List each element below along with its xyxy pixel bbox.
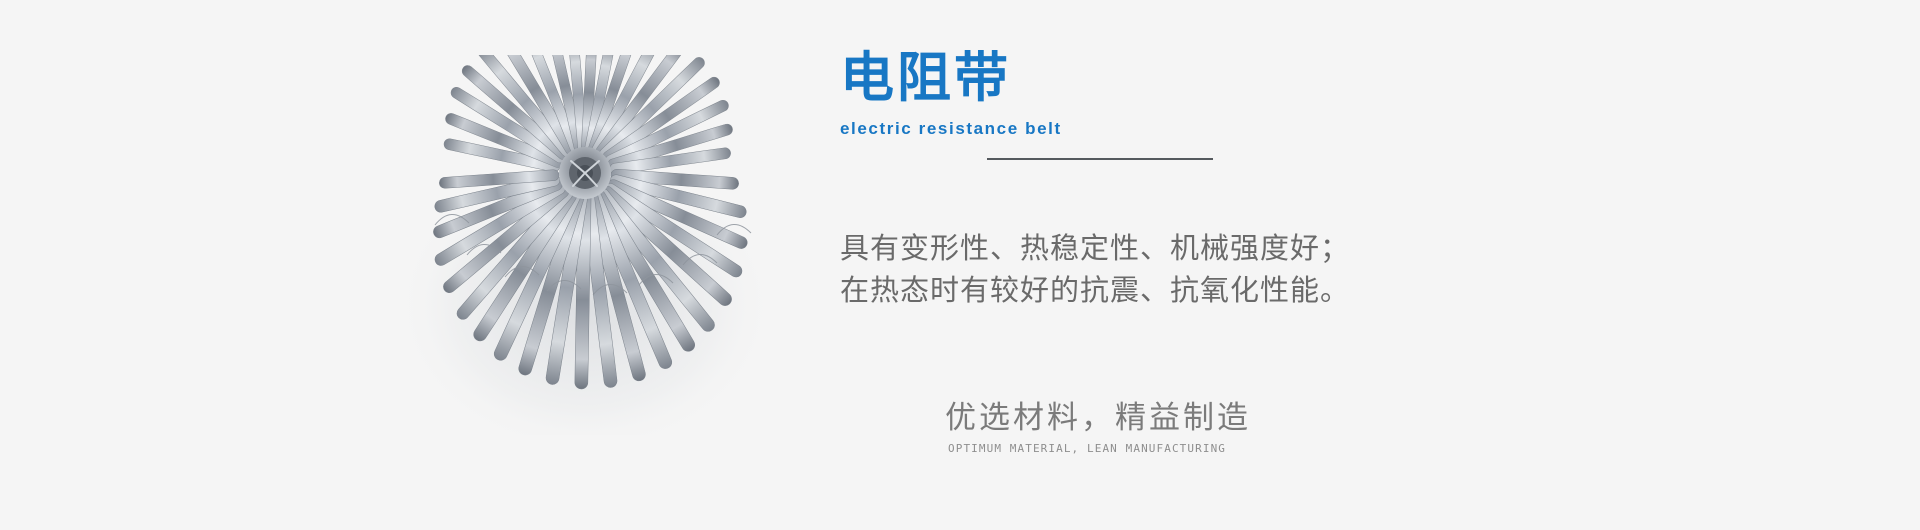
banner-text-column: 电阻带 electric resistance belt 具有变形性、热稳定性、…	[840, 0, 1680, 530]
tagline-chinese: 优选材料，精益制造	[945, 398, 1505, 438]
page-subtitle: electric resistance belt	[840, 118, 1360, 140]
product-description: 具有变形性、热稳定性、机械强度好； 在热态时有较好的抗震、抗氧化性能。	[840, 228, 1460, 312]
description-line-2: 在热态时有较好的抗震、抗氧化性能。	[840, 270, 1460, 312]
description-line-1: 具有变形性、热稳定性、机械强度好；	[840, 228, 1460, 270]
title-block: 电阻带 electric resistance belt	[840, 48, 1360, 168]
brand-tagline: 优选材料，精益制造 OPTIMUM MATERIAL, LEAN MANUFAC…	[945, 398, 1505, 456]
product-image-figure	[370, 55, 800, 435]
title-divider	[987, 158, 1213, 160]
page-title: 电阻带	[840, 48, 1360, 108]
product-banner: 电阻带 electric resistance belt 具有变形性、热稳定性、…	[0, 0, 1920, 530]
electric-resistance-belt-coil-photo	[370, 55, 800, 435]
tagline-english: OPTIMUM MATERIAL, LEAN MANUFACTURING	[948, 442, 1505, 456]
